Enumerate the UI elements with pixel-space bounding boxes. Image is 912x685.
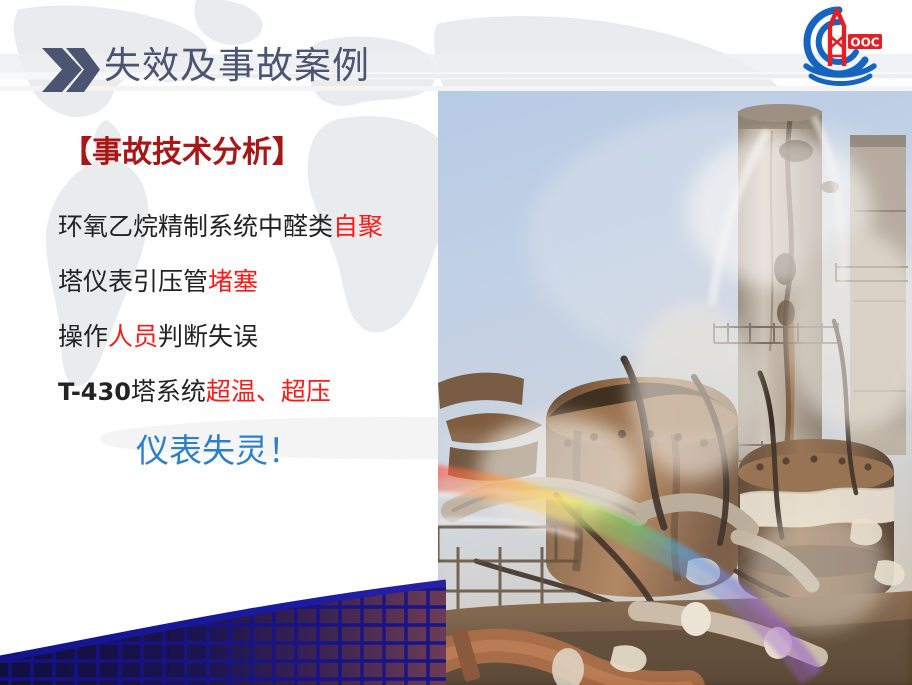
double-chevron-right-icon (40, 46, 100, 94)
logo-wordmark-text: OOC (850, 36, 879, 50)
footer-swoosh-decoration (0, 555, 446, 685)
analysis-list: 环氧乙烷精制系统中醛类自聚 塔仪表引压管堵塞 操作人员判断失误 T-430塔系统… (58, 200, 438, 420)
bullet-highlight-1: 自聚 (333, 214, 383, 241)
list-item: 塔仪表引压管堵塞 (58, 255, 438, 310)
bullet-lead-2: 塔仪表引压管 (58, 269, 208, 296)
list-item: 环氧乙烷精制系统中醛类自聚 (58, 200, 438, 255)
slide-root: 失效及事故案例 OOC (0, 0, 912, 685)
bullet-lead-1: 环氧乙烷精制系统中醛类 (58, 214, 333, 241)
cnooc-logo: OOC (780, 4, 898, 90)
section-heading: 【事故技术分析】 (62, 134, 302, 172)
list-item: 操作人员判断失误 (58, 310, 438, 365)
bullet-tail-3: 判断失误 (158, 324, 258, 351)
bullet-highlight-4: 超温、超压 (206, 379, 331, 406)
accident-site-photo (438, 91, 912, 685)
bullet-highlight-2: 堵塞 (208, 269, 258, 296)
bullet-highlight-3: 人员 (108, 324, 158, 351)
list-item: T-430塔系统超温、超压 (58, 365, 438, 420)
bullet-lead-4b: 塔系统 (131, 379, 206, 406)
bullet-lead-3: 操作 (58, 324, 108, 351)
bullet-lead-4: T-430 (58, 378, 131, 406)
closing-statement: 仪表失灵！ (136, 430, 301, 474)
page-title: 失效及事故案例 (104, 44, 370, 90)
